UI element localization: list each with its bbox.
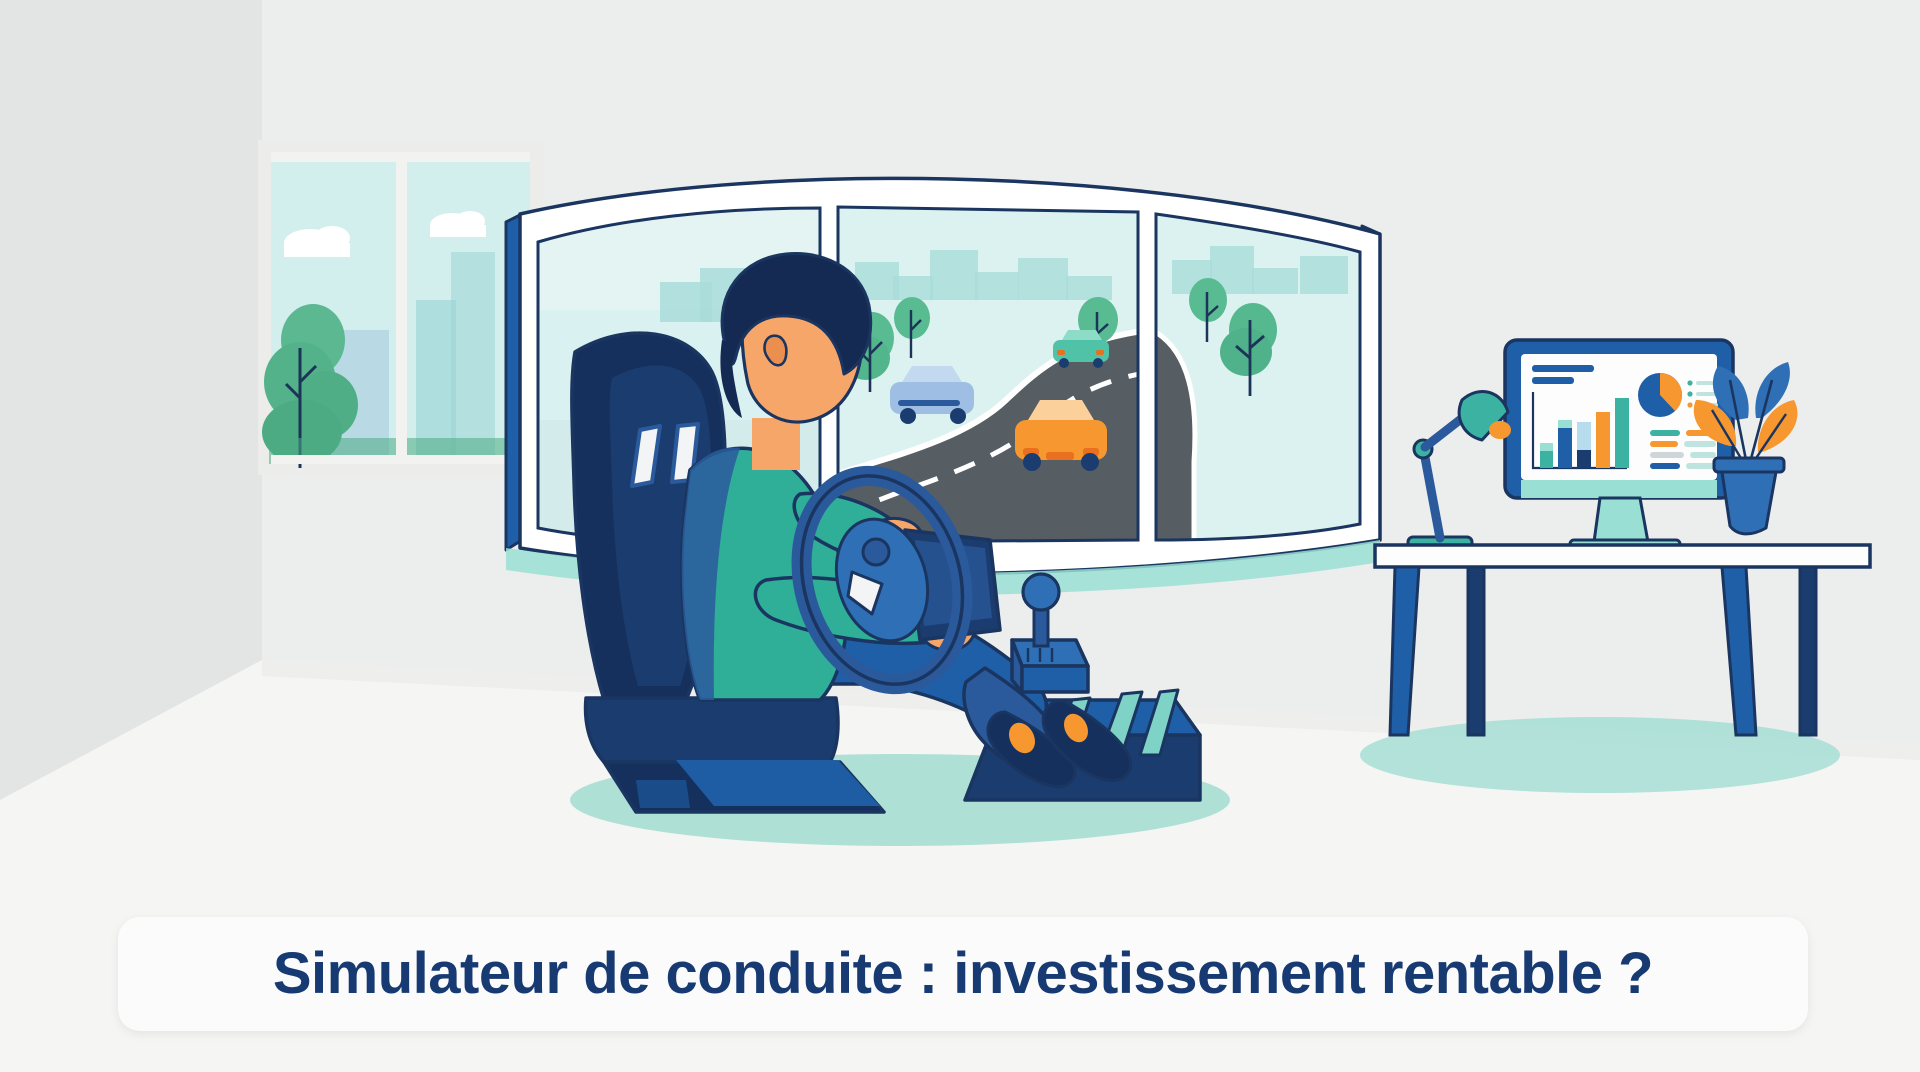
illustration-canvas: Simulateur de conduite : investissement …	[0, 0, 1920, 1072]
monitor-screen-right	[1150, 200, 1370, 552]
window-mullion-v	[396, 152, 407, 463]
window-mullion-top	[271, 152, 530, 162]
monitor-screen-center	[830, 200, 1150, 552]
plant-pot-rim	[1714, 458, 1784, 472]
scene-illustration	[0, 0, 1920, 1072]
shifter-base-top	[1012, 640, 1088, 666]
desk-leg-back-left	[1468, 567, 1484, 735]
seat-cushion	[586, 698, 838, 762]
seat-base-facet	[636, 780, 690, 808]
window-mullion-bottom	[271, 455, 530, 464]
window-building-1	[451, 252, 495, 464]
desk-top	[1375, 545, 1870, 567]
title-banner: Simulateur de conduite : investissement …	[118, 917, 1808, 1031]
left-wall	[0, 0, 262, 800]
shifter-base-front	[1022, 666, 1088, 692]
desk-floor-shadow	[1360, 717, 1840, 793]
office-window	[258, 140, 543, 475]
driver-neck	[752, 418, 800, 470]
shifter-knob	[1023, 574, 1059, 610]
banner-title-text: Simulateur de conduite : investissement …	[273, 945, 1653, 1003]
wheel-center-button	[863, 539, 889, 565]
dashboard-pie-chart	[1638, 373, 1682, 417]
pc-chin	[1521, 480, 1717, 498]
pc-stand-neck	[1594, 498, 1648, 542]
plant-pot	[1722, 472, 1776, 534]
desk-leg-back-right	[1800, 567, 1816, 735]
lamp-bulb	[1489, 421, 1511, 439]
